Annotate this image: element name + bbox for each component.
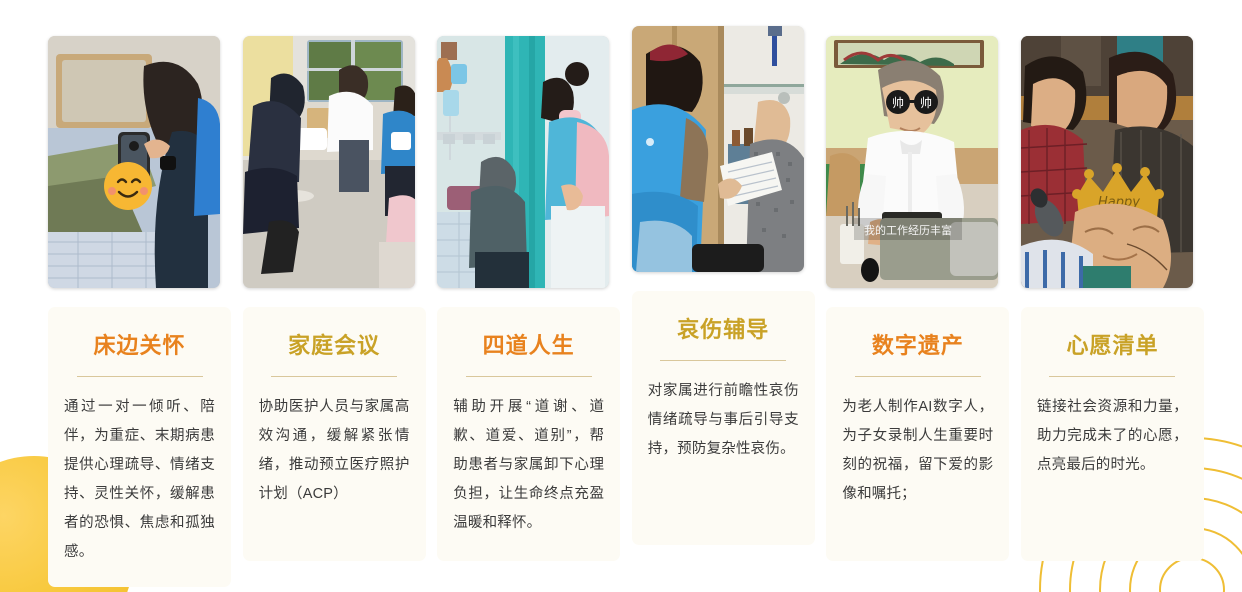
title-divider	[660, 360, 786, 361]
card-body: 链接社会资源和力量，助力完成未了的心愿，点亮最后的时光。	[1037, 393, 1188, 480]
card-body: 为老人制作AI数字人，为子女录制人生重要时刻的祝福，留下爱的影像和嘱托；	[842, 393, 993, 509]
title-divider	[466, 376, 592, 377]
service-card-6[interactable]: Happy 心愿清单 链接社会资源和力量，助力完成未了的心愿，点亮最后的时光。	[1021, 0, 1204, 587]
grief-counseling-photo	[632, 26, 804, 272]
service-card-5[interactable]: 帅 帅 我的工作经历丰富	[826, 0, 1009, 587]
title-divider	[855, 376, 981, 377]
service-card-3-info: 四道人生 辅助开展“道谢、道歉、道爱、道别”，帮助患者与家属卸下心理负担，让生命…	[437, 307, 620, 561]
card-body: 辅助开展“道谢、道歉、道爱、道别”，帮助患者与家属卸下心理负担，让生命终点充盈温…	[453, 393, 604, 538]
card-title: 心愿清单	[1037, 333, 1188, 359]
digital-legacy-photo: 帅 帅 我的工作经历丰富	[826, 36, 998, 288]
title-divider	[77, 376, 203, 377]
service-card-4[interactable]: 哀伤辅导 对家属进行前瞻性哀伤情绪疏导与事后引导支持，预防复杂性哀伤。	[632, 0, 815, 587]
service-card-3[interactable]: 四道人生 辅助开展“道谢、道歉、道爱、道别”，帮助患者与家属卸下心理负担，让生命…	[437, 0, 620, 587]
wish-list-photo: Happy	[1021, 36, 1193, 288]
service-card-2-info: 家庭会议 协助医护人员与家属高效沟通，缓解紧张情绪，推动预立医疗照护计划（ACP…	[243, 307, 426, 561]
family-meeting-photo	[243, 36, 415, 288]
card-body: 协助医护人员与家属高效沟通，缓解紧张情绪，推动预立医疗照护计划（ACP）	[259, 393, 410, 509]
four-farewells-photo	[437, 36, 609, 288]
card-title: 四道人生	[453, 333, 604, 359]
service-card-1[interactable]: 床边关怀 通过一对一倾听、陪伴，为重症、末期病患提供心理疏导、情绪支持、灵性关怀…	[48, 0, 231, 587]
card-title: 床边关怀	[64, 333, 215, 359]
title-divider	[271, 376, 397, 377]
svg-text:帅: 帅	[892, 96, 904, 110]
service-card-1-info: 床边关怀 通过一对一倾听、陪伴，为重症、末期病患提供心理疏导、情绪支持、灵性关怀…	[48, 307, 231, 587]
card-body: 对家属进行前瞻性哀伤情绪疏导与事后引导支持，预防复杂性哀伤。	[648, 377, 799, 464]
bedside-care-photo	[48, 36, 220, 288]
service-card-5-info: 数字遗产 为老人制作AI数字人，为子女录制人生重要时刻的祝福，留下爱的影像和嘱托…	[826, 307, 1009, 561]
card-title: 哀伤辅导	[648, 317, 799, 343]
service-card-2[interactable]: 家庭会议 协助医护人员与家属高效沟通，缓解紧张情绪，推动预立医疗照护计划（ACP…	[243, 0, 426, 587]
service-card-4-info: 哀伤辅导 对家属进行前瞻性哀伤情绪疏导与事后引导支持，预防复杂性哀伤。	[632, 291, 815, 545]
service-card-6-info: 心愿清单 链接社会资源和力量，助力完成未了的心愿，点亮最后的时光。	[1021, 307, 1204, 561]
svg-text:帅: 帅	[920, 96, 932, 110]
card-title: 数字遗产	[842, 333, 993, 359]
card-title: 家庭会议	[259, 333, 410, 359]
card-body: 通过一对一倾听、陪伴，为重症、末期病患提供心理疏导、情绪支持、灵性关怀，缓解患者…	[64, 393, 215, 567]
service-card-grid: 床边关怀 通过一对一倾听、陪伴，为重症、末期病患提供心理疏导、情绪支持、灵性关怀…	[48, 0, 1214, 592]
svg-text:我的工作经历丰富: 我的工作经历丰富	[864, 223, 952, 237]
title-divider	[1049, 376, 1175, 377]
